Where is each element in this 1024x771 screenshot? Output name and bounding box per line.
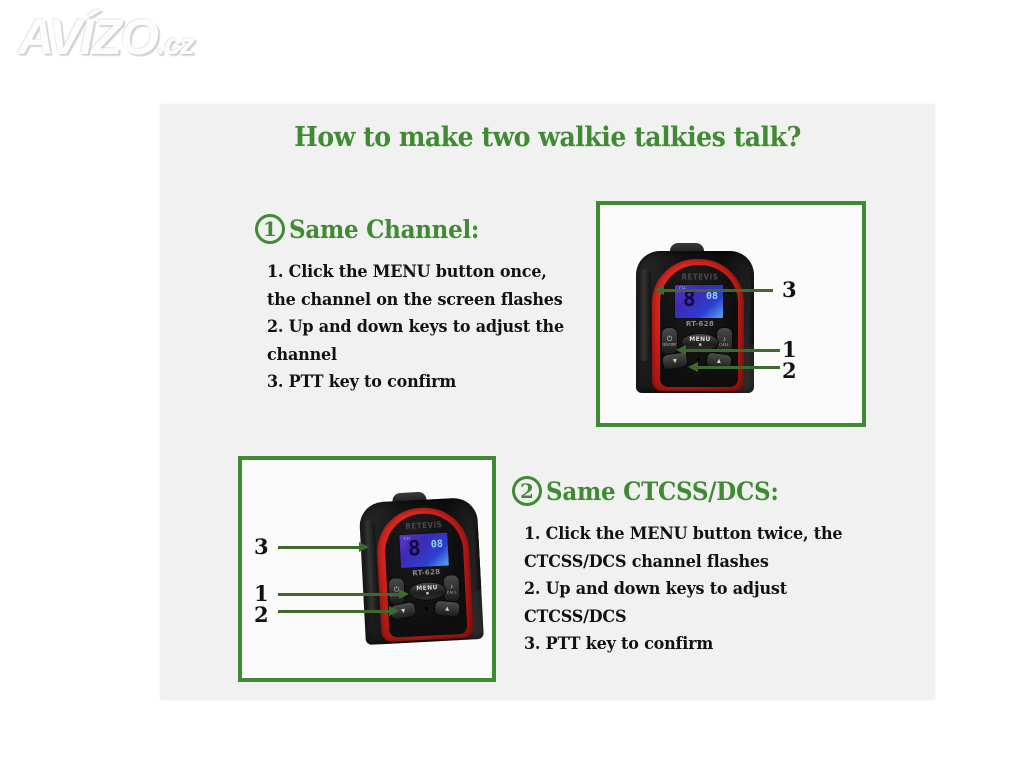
microphone-hole <box>697 358 700 361</box>
callout-label-top-2: 2 <box>782 358 797 383</box>
callout-arrow-bottom-3 <box>278 546 360 549</box>
section-2-step-line-4: CTCSS/DCS <box>524 604 842 632</box>
lcd-channel: 8 <box>407 538 421 560</box>
callout-arrow-bottom-1 <box>278 593 400 596</box>
section-2-number: 2 <box>512 476 542 506</box>
power-label: ON/OFF <box>663 343 677 347</box>
brand-logo: RETEVIS <box>672 272 728 281</box>
section-2-heading: 2 Same CTCSS/DCS: <box>512 476 799 506</box>
instruction-panel: How to make two walkie talkies talk? 1 S… <box>160 104 935 700</box>
callout-arrow-bottom-2 <box>278 610 390 613</box>
callout-arrow-top-1 <box>685 349 780 352</box>
avizo-watermark: AVÍZO.cz <box>18 8 194 66</box>
lcd-channel: 8 <box>683 289 696 310</box>
section-1-heading: 1 Same Channel: <box>255 214 496 244</box>
section-1-step-line-3: 2. Up and down keys to adjust the <box>267 314 564 342</box>
section-1-step-line-1: 1. Click the MENU button once, <box>267 259 564 287</box>
section-2-step-line-1: 1. Click the MENU button twice, the <box>524 521 842 549</box>
photo-box-bottom: RETEVIS CH 8 08 RT-628 ⏻ ON/OFF ♪ CALL M… <box>238 456 496 682</box>
section-1-step-line-5: 3. PTT key to confirm <box>267 369 564 397</box>
callout-arrow-top-3 <box>663 289 773 292</box>
section-2-title: Same CTCSS/DCS: <box>546 477 779 506</box>
side-grip <box>639 269 651 361</box>
up-arrow-icon: ▲ <box>443 605 451 613</box>
power-icon: ⏻ <box>667 336 673 343</box>
section-1-steps: 1. Click the MENU button once, the chann… <box>267 259 564 397</box>
section-2-steps: 1. Click the MENU button twice, the CTCS… <box>524 521 842 659</box>
watermark-brand: AVÍZO <box>18 9 157 65</box>
callout-label-top-3: 3 <box>782 277 797 302</box>
lock-icon: ■ <box>426 592 429 597</box>
callout-label-bottom-2: 2 <box>254 602 269 627</box>
section-2-step-line-5: 3. PTT key to confirm <box>524 631 842 659</box>
section-1-title: Same Channel: <box>289 215 479 244</box>
watermark-tld: .cz <box>157 28 194 61</box>
callout-arrow-top-2 <box>697 366 780 369</box>
up-arrow-icon: ▲ <box>715 357 723 365</box>
page-title: How to make two walkie talkies talk? <box>187 122 908 153</box>
section-1-step-line-4: channel <box>267 342 564 370</box>
down-arrow-icon: ▼ <box>399 607 407 615</box>
lcd-sub: 08 <box>706 292 718 302</box>
music-note-icon: ♪ <box>723 336 727 343</box>
photo-box-top: RETEVIS CH 8 08 RT-628 ⏻ ON/OFF ♪ CALL M… <box>596 201 866 427</box>
up-key[interactable]: ▲ <box>434 600 461 618</box>
lcd-screen: CH 8 08 <box>398 532 450 570</box>
lock-icon: ■ <box>698 343 701 348</box>
section-1-number: 1 <box>255 214 285 244</box>
section-2-step-line-2: CTCSS/DCS channel flashes <box>524 549 842 577</box>
belt-clip <box>748 283 754 345</box>
down-arrow-icon: ▼ <box>671 357 679 365</box>
call-label: CALL <box>719 343 729 347</box>
callout-label-bottom-3: 3 <box>254 534 269 559</box>
lcd-sub: 08 <box>431 540 444 551</box>
call-label: CALL <box>447 590 457 595</box>
walkie-talkie-device-bottom: RETEVIS CH 8 08 RT-628 ⏻ ON/OFF ♪ CALL M… <box>358 489 484 645</box>
section-2-step-line-3: 2. Up and down keys to adjust <box>524 576 842 604</box>
section-1-step-line-2: the channel on the screen flashes <box>267 287 564 315</box>
